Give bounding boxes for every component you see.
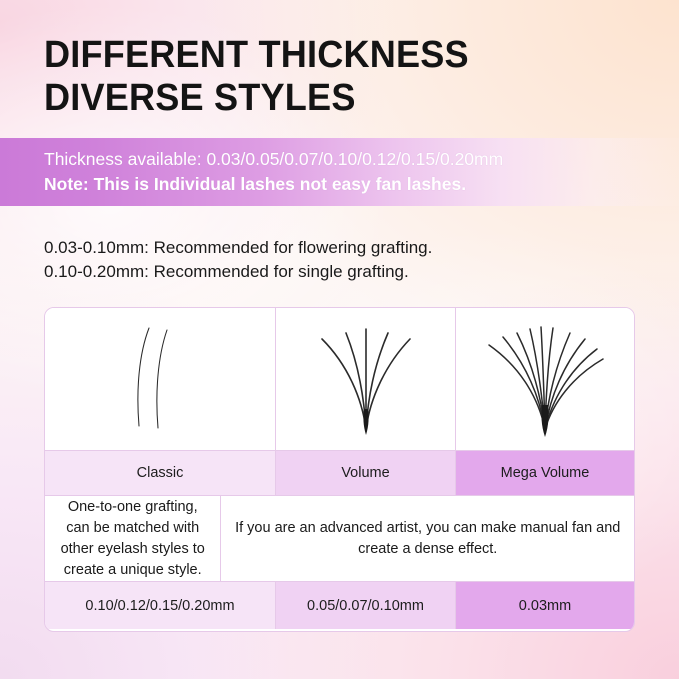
style-name-volume: Volume	[276, 451, 456, 495]
banner-note-text: Note: This is Individual lashes not easy…	[44, 172, 664, 197]
artwork-cell-volume	[276, 308, 456, 450]
lash-style-comparison-table: Classic Volume Mega Volume One-to-one gr…	[44, 307, 635, 632]
thickness-banner: Thickness available: 0.03/0.05/0.07/0.10…	[0, 138, 679, 206]
recommendation-line-2: 0.10-0.20mm: Recommended for single graf…	[44, 260, 644, 284]
recommendation-line-1: 0.03-0.10mm: Recommended for flowering g…	[44, 236, 644, 260]
artwork-cell-classic	[45, 308, 276, 450]
thickness-mega-volume: 0.03mm	[456, 582, 634, 629]
thickness-volume: 0.05/0.07/0.10mm	[276, 582, 456, 629]
description-text-classic: One-to-one grafting, can be matched with…	[57, 497, 208, 581]
infographic-page: DIFFERENT THICKNESS DIVERSE STYLES Thick…	[0, 0, 679, 679]
title-line-2: DIVERSE STYLES	[44, 77, 614, 120]
classic-lash-icon	[105, 320, 215, 438]
table-row-thickness: 0.10/0.12/0.15/0.20mm 0.05/0.07/0.10mm 0…	[45, 582, 634, 629]
artwork-cell-mega-volume	[456, 308, 634, 450]
volume-fan-icon	[302, 321, 430, 437]
banner-content: Thickness available: 0.03/0.05/0.07/0.10…	[44, 147, 664, 197]
mega-volume-fan-icon	[475, 319, 615, 439]
recommendations: 0.03-0.10mm: Recommended for flowering g…	[44, 236, 644, 284]
style-name-classic: Classic	[45, 451, 276, 495]
description-cell-classic: One-to-one grafting, can be matched with…	[45, 496, 221, 581]
title-line-1: DIFFERENT THICKNESS	[44, 34, 614, 77]
table-row-artwork	[45, 308, 634, 450]
table-row-descriptions: One-to-one grafting, can be matched with…	[45, 496, 634, 582]
description-cell-volume-mega: If you are an advanced artist, you can m…	[221, 496, 634, 581]
page-title: DIFFERENT THICKNESS DIVERSE STYLES	[44, 34, 644, 120]
table-row-style-names: Classic Volume Mega Volume	[45, 450, 634, 496]
thickness-classic: 0.10/0.12/0.15/0.20mm	[45, 582, 276, 629]
style-name-mega-volume: Mega Volume	[456, 451, 634, 495]
thickness-available-text: Thickness available: 0.03/0.05/0.07/0.10…	[44, 147, 664, 172]
description-text-volume-mega: If you are an advanced artist, you can m…	[233, 518, 622, 560]
